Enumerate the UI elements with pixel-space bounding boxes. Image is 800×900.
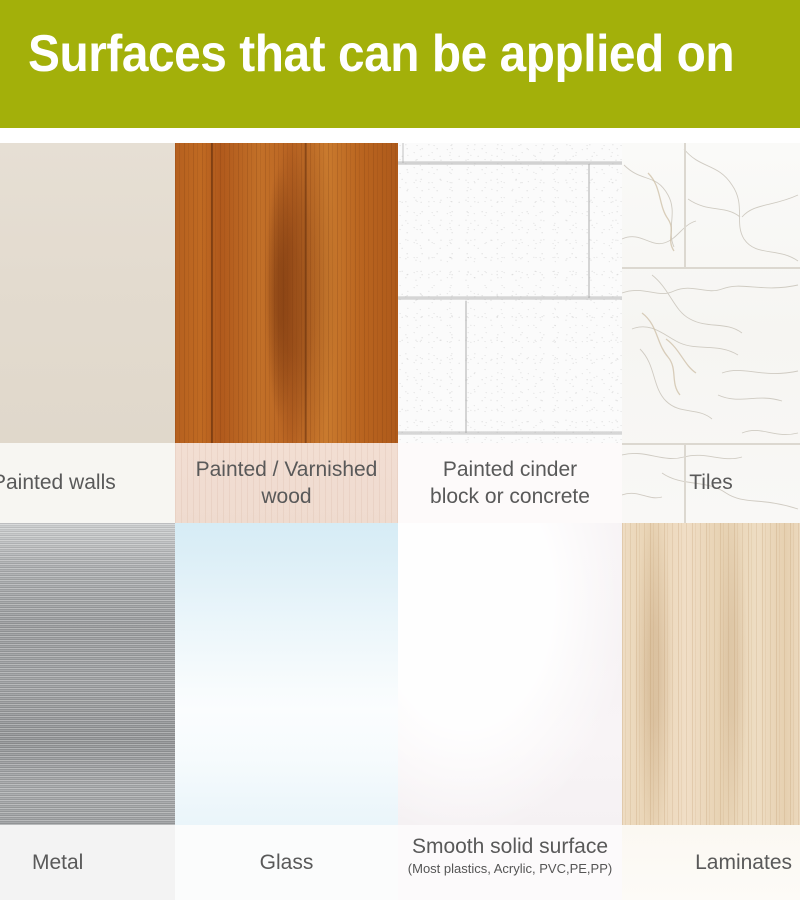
surface-grid: Painted walls Painted / Varnished wood P…: [0, 143, 800, 900]
surface-cell-painted-varnished-wood[interactable]: Painted / Varnished wood: [175, 143, 398, 523]
texture-wood: [175, 143, 398, 443]
mortar-joint-vertical: [588, 164, 590, 298]
caption-laminates: Laminates: [622, 825, 800, 900]
surface-cell-glass[interactable]: Glass: [175, 523, 398, 900]
tile-grout-vertical: [684, 143, 686, 267]
caption-glass: Glass: [175, 825, 398, 900]
page-title: Surfaces that can be applied on: [28, 28, 727, 80]
header-banner: Surfaces that can be applied on: [0, 0, 800, 128]
surface-cell-laminates[interactable]: Laminates: [622, 523, 800, 900]
texture-solid-surface: [398, 523, 622, 825]
surface-label: Tiles: [689, 469, 733, 496]
mortar-joint-vertical: [402, 143, 404, 163]
surface-sublabel: (Most plastics, Acrylic, PVC,PE,PP): [408, 861, 612, 877]
caption-painted-walls: Painted walls: [0, 443, 175, 523]
caption-tiles: Tiles: [622, 443, 800, 523]
tile-grout-horizontal: [622, 267, 800, 269]
surface-cell-tiles[interactable]: Tiles: [622, 143, 800, 523]
caption-smooth-solid-surface: Smooth solid surface (Most plastics, Acr…: [398, 825, 622, 900]
mortar-joint-vertical: [465, 301, 467, 433]
surface-cell-painted-cinder-block[interactable]: Painted cinder block or concrete: [398, 143, 622, 523]
surface-cell-smooth-solid-surface[interactable]: Smooth solid surface (Most plastics, Acr…: [398, 523, 622, 900]
surface-cell-painted-walls[interactable]: Painted walls: [0, 143, 175, 523]
caption-metal: Metal: [0, 825, 175, 900]
texture-painted-walls: [0, 143, 175, 443]
texture-glass: [175, 523, 398, 825]
surface-label: Laminates: [695, 849, 792, 876]
surface-label: Metal: [32, 849, 83, 876]
texture-cinder-block: [398, 143, 622, 443]
texture-laminate: [622, 523, 800, 825]
surface-label: Painted / Varnished wood: [196, 456, 378, 511]
surface-label: Painted cinder block or concrete: [430, 456, 590, 511]
surfaces-infographic: Surfaces that can be applied on Painted …: [0, 0, 800, 900]
caption-painted-cinder-block: Painted cinder block or concrete: [398, 443, 622, 523]
texture-brushed-metal: [0, 523, 175, 825]
surface-cell-metal[interactable]: Metal: [0, 523, 175, 900]
surface-label: Painted walls: [0, 469, 116, 496]
surface-label: Smooth solid surface: [412, 833, 608, 860]
surface-label: Glass: [260, 849, 314, 876]
caption-painted-varnished-wood: Painted / Varnished wood: [175, 443, 398, 523]
